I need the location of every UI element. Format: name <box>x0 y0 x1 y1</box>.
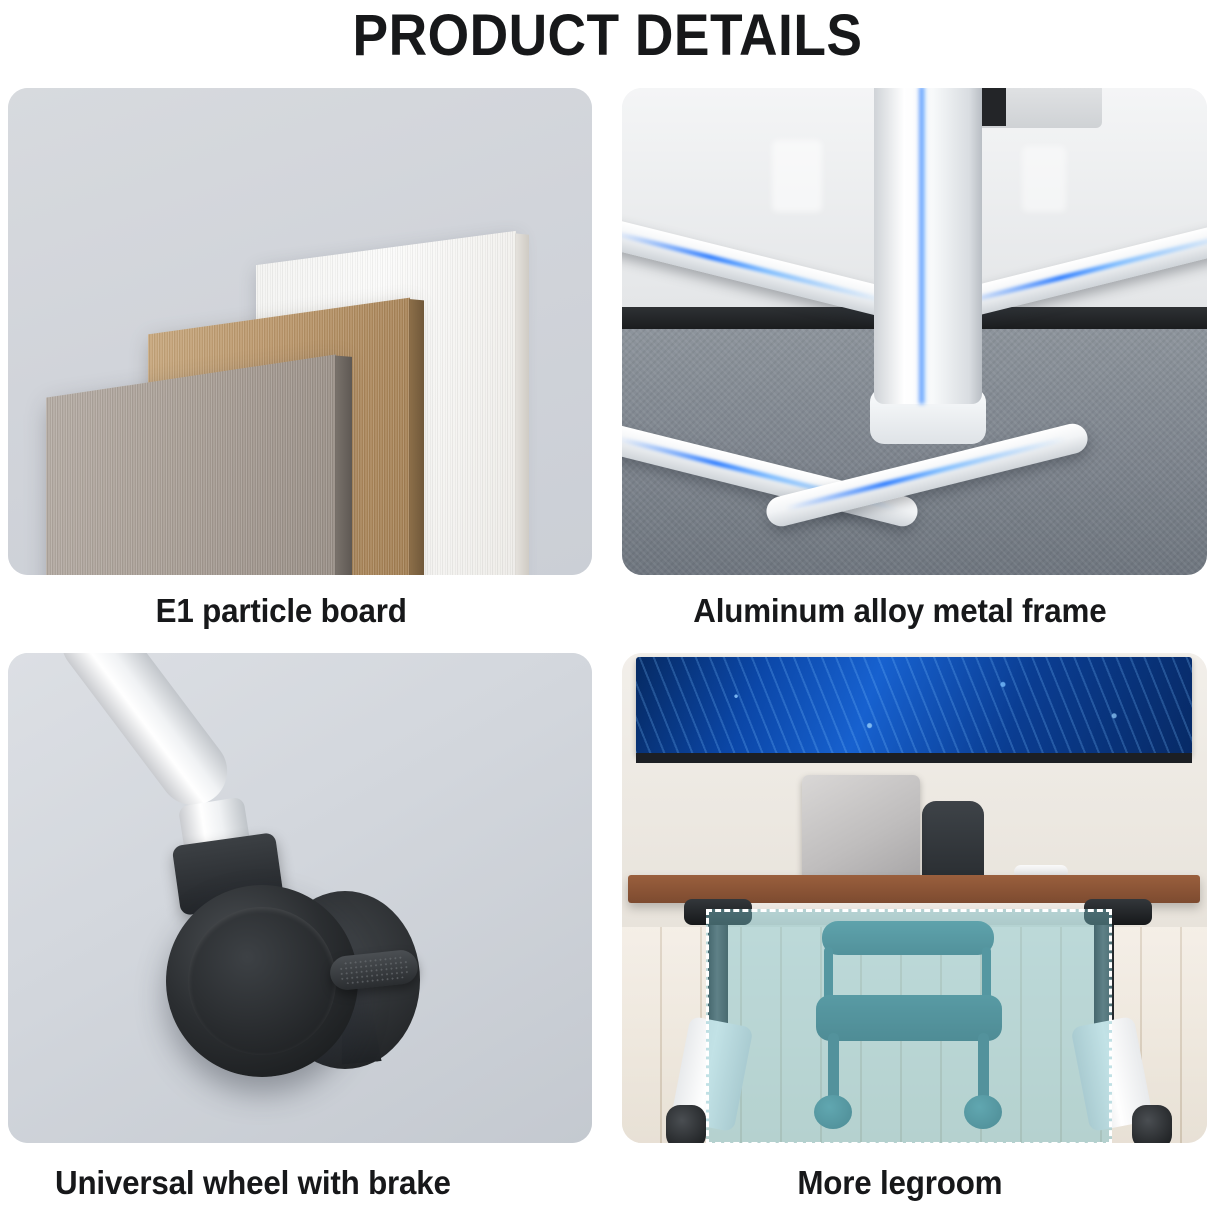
panel-more-legroom <box>622 653 1207 1143</box>
panel-particle-board <box>8 88 592 575</box>
wall-reflection-left <box>772 140 822 212</box>
shelf-dark-insert <box>980 88 1006 126</box>
board-grain-gray <box>46 354 336 575</box>
column-blue-glow <box>918 88 926 404</box>
caption-metal-frame: Aluminum alloy metal frame <box>622 583 1178 639</box>
chair-backrest-above-table <box>922 801 984 877</box>
wall-reflection-right <box>1022 146 1066 212</box>
board-stage-background <box>8 88 592 575</box>
caption-particle-board: E1 particle board <box>0 583 562 639</box>
product-details-infographic: PRODUCT DETAILS E1 particle board <box>0 0 1215 1205</box>
wall-display-screen <box>636 657 1192 755</box>
board-edge-gray <box>335 356 352 575</box>
laptop <box>802 775 920 877</box>
board-sample-gray <box>46 354 336 575</box>
caster-wheel-front <box>166 885 358 1077</box>
board-edge-white <box>515 233 529 575</box>
caption-universal-wheel: Universal wheel with brake <box>55 1155 451 1211</box>
wheel-stage-background <box>8 653 592 1143</box>
table-caster-left <box>666 1105 706 1143</box>
frame-center-column <box>874 88 982 404</box>
caption-more-legroom: More legroom <box>622 1155 1178 1211</box>
table-leg-tube <box>48 653 241 819</box>
board-edge-oak <box>409 299 424 575</box>
table-caster-right <box>1132 1105 1172 1143</box>
panel-universal-wheel <box>8 653 592 1143</box>
page-title: PRODUCT DETAILS <box>49 0 1167 70</box>
legroom-highlight-area <box>706 909 1112 1143</box>
display-screen-frame <box>636 753 1192 763</box>
panel-metal-frame <box>622 88 1207 575</box>
